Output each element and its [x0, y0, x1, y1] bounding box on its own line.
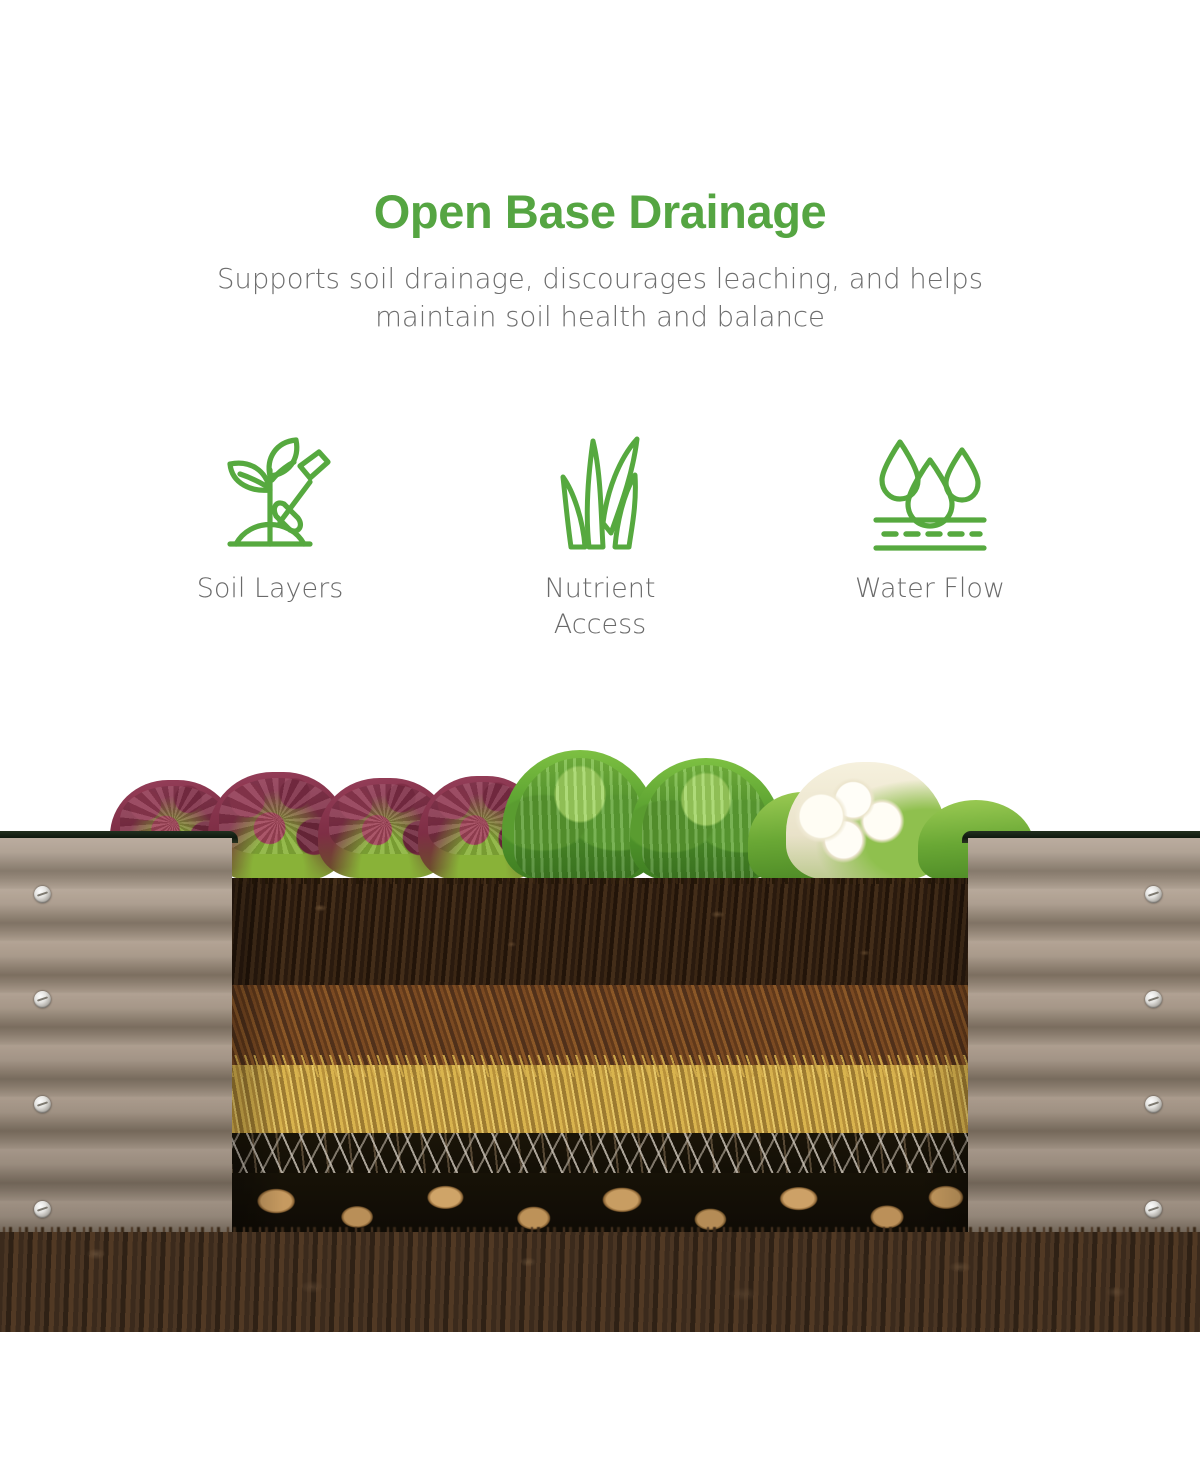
feature-label-line-1: Nutrient: [545, 573, 656, 604]
feature-soil-layers: Soil Layers: [120, 430, 420, 607]
page-subtitle: Supports soil drainage, discourages leac…: [110, 261, 1090, 337]
seedling-trowel-icon: [206, 430, 334, 555]
product-photo: [0, 700, 1200, 1340]
bed-panel-right: [968, 838, 1200, 1234]
feature-label-line-1: Soil Layers: [197, 573, 344, 604]
feature-water-flow: Water Flow: [780, 430, 1080, 607]
infographic-page: Open Base Drainage Supports soil drainag…: [0, 0, 1200, 1466]
subtitle-line-1: Supports soil drainage, discourages leac…: [110, 261, 1090, 299]
panel-screw: [1145, 886, 1162, 903]
soil-layer-topsoil-compost: [232, 878, 968, 985]
plant-row: [100, 720, 1060, 880]
subtitle-line-2: maintain soil health and balance: [110, 299, 1090, 337]
panel-sheen: [968, 838, 1200, 1234]
garden-ground-soil: [0, 1232, 1200, 1332]
bed-panel-left: [0, 838, 232, 1234]
feature-label: Nutrient Access: [545, 571, 656, 642]
panel-screw: [34, 1201, 51, 1218]
topsoil-surface-edge: [232, 878, 968, 884]
feature-nutrient-access: Nutrient Access: [450, 430, 750, 642]
header: Open Base Drainage Supports soil drainag…: [0, 186, 1200, 337]
feature-label: Water Flow: [855, 571, 1005, 607]
feature-label-line-1: Water Flow: [855, 573, 1005, 604]
feature-list: Soil Layers Nutrient Access: [120, 430, 1080, 642]
soil-layer-mulch-coir: [232, 985, 968, 1065]
water-droplets-ground-icon: [866, 430, 994, 555]
panel-screw: [1145, 1201, 1162, 1218]
soil-cross-section: [232, 878, 968, 1234]
panel-screw: [1145, 991, 1162, 1008]
soil-layer-wood-logs: [232, 1173, 968, 1234]
panel-screw: [34, 991, 51, 1008]
feature-label: Soil Layers: [197, 571, 344, 607]
page-title: Open Base Drainage: [0, 186, 1200, 239]
grass-blades-icon: [541, 430, 659, 555]
panel-screw: [34, 886, 51, 903]
soil-layer-straw: [232, 1065, 968, 1133]
panel-screw: [34, 1096, 51, 1113]
feature-label-line-2: Access: [554, 609, 646, 640]
panel-screw: [1145, 1096, 1162, 1113]
